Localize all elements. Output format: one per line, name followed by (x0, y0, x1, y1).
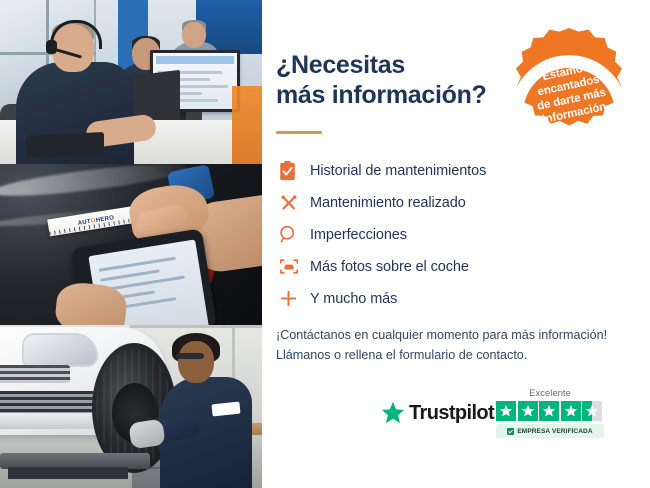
star-1 (496, 401, 516, 421)
feature-label: Mantenimiento realizado (310, 195, 466, 211)
feature-item-mantenimiento: Mantenimiento realizado (276, 187, 636, 218)
feature-item-mas-fotos: Más fotos sobre el coche (276, 251, 636, 282)
star-3 (539, 401, 559, 421)
content-panel: ¿Necesitas más información? Estamos enca… (262, 0, 650, 488)
vehicle-inspection-photo: AUTOHERO (0, 164, 262, 325)
feature-label: Más fotos sobre el coche (310, 259, 469, 275)
clipboard-check-icon (276, 158, 310, 184)
photo-column: AUTOHERO (0, 0, 262, 488)
magnifier-icon (276, 222, 310, 248)
call-center-agents-photo (0, 0, 262, 164)
trustpilot-wordmark: Trustpilot (409, 402, 494, 425)
feature-item-imperfecciones: Imperfecciones (276, 219, 636, 250)
trustpilot-widget[interactable]: Trustpilot Excelente (380, 388, 630, 450)
rating-label: Excelente (496, 388, 604, 399)
wrench-screwdriver-icon (276, 190, 310, 216)
page-title: ¿Necesitas más información? (276, 50, 526, 110)
promo-card: AUTOHERO (0, 0, 650, 488)
feature-list: Historial de mantenimientos Mantenimient… (276, 155, 636, 315)
verified-check-icon (507, 428, 514, 435)
car-photo-frame-icon (276, 254, 310, 280)
feature-item-mucho-mas: Y mucho más (276, 283, 636, 314)
star-rating (496, 401, 604, 421)
title-divider (276, 131, 322, 134)
promo-badge: Estamos encantados de darte más informac… (499, 22, 639, 154)
trustpilot-star-icon (380, 400, 406, 426)
feature-label: Historial de mantenimientos (310, 163, 486, 179)
contact-paragraph-line2: Llámanos o rellena el formulario de cont… (276, 345, 631, 365)
feature-item-historial: Historial de mantenimientos (276, 155, 636, 186)
trustpilot-rating: Excelente (496, 388, 604, 438)
page-title-line2: más información? (276, 80, 526, 110)
star-5-half (582, 401, 602, 421)
plus-icon (276, 286, 310, 312)
contact-paragraph-line1: ¡Contáctanos en cualquier momento para m… (276, 325, 631, 345)
feature-label: Imperfecciones (310, 227, 407, 243)
star-4 (561, 401, 581, 421)
feature-label: Y mucho más (310, 291, 397, 307)
trustpilot-logo: Trustpilot (380, 400, 494, 426)
verified-badge: EMPRESA VERIFICADA (496, 424, 604, 438)
contact-paragraph: ¡Contáctanos en cualquier momento para m… (276, 325, 631, 366)
verified-label: EMPRESA VERIFICADA (517, 428, 592, 435)
star-2 (518, 401, 538, 421)
mechanic-wheel-photo (0, 325, 262, 488)
